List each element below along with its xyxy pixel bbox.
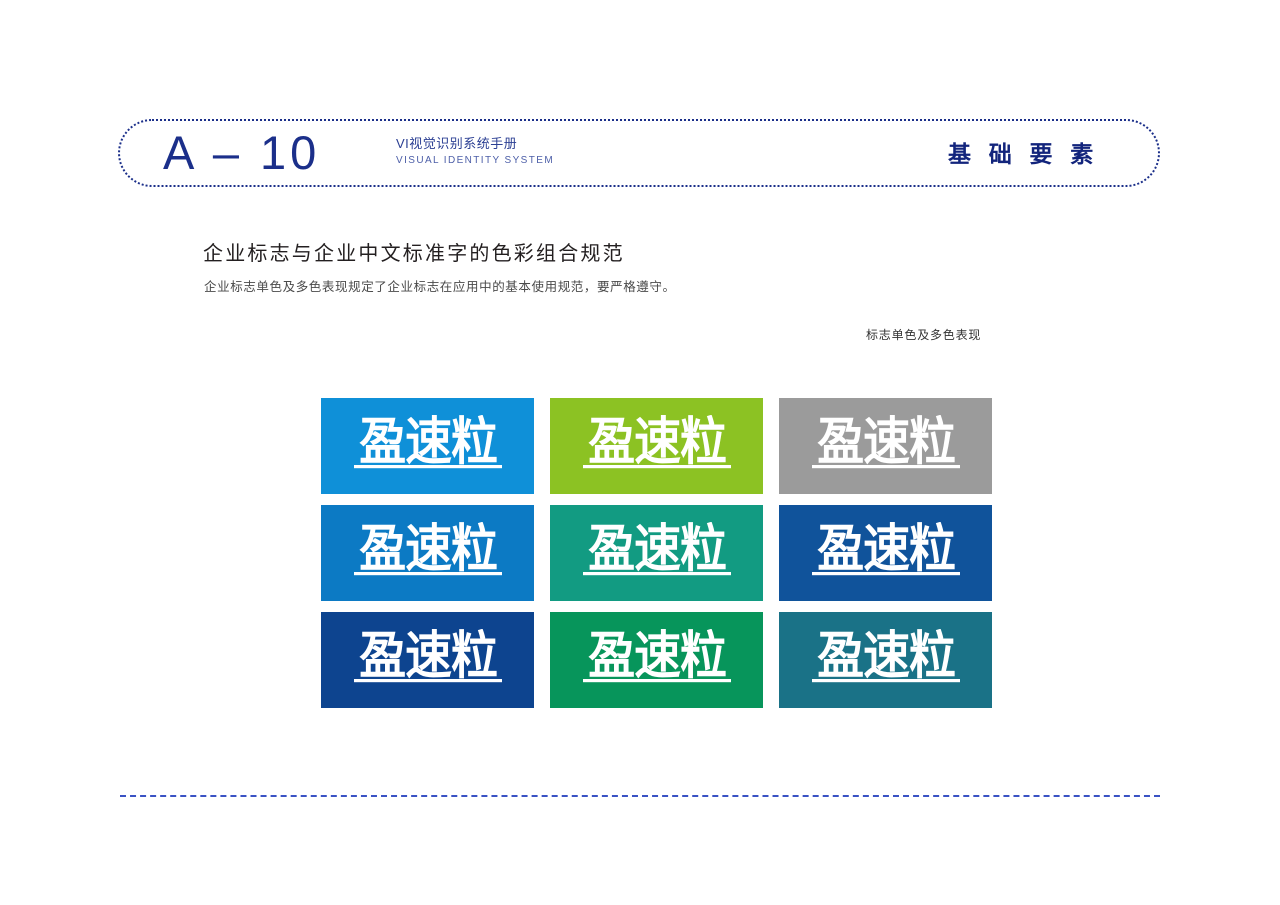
logo-wordmark: 盈速粒 (340, 629, 516, 691)
page-subtitle: 企业标志单色及多色表现规定了企业标志在应用中的基本使用规范，要严格遵守。 (204, 276, 676, 295)
logo-wordmark: 盈速粒 (569, 415, 745, 477)
logo-swatch-azure-blue[interactable]: 盈速粒 (321, 505, 534, 601)
svg-text:盈速粒: 盈速粒 (817, 522, 955, 579)
page-title: 企业标志与企业中文标准字的色彩组合规范 (203, 237, 625, 266)
svg-text:盈速粒: 盈速粒 (817, 629, 955, 686)
manual-title-block: VI视觉识别系统手册 VISUAL IDENTITY SYSTEM (396, 136, 554, 168)
logo-swatch-navy-blue[interactable]: 盈速粒 (779, 505, 992, 601)
logo-wordmark: 盈速粒 (798, 415, 974, 477)
manual-title-en: VISUAL IDENTITY SYSTEM (396, 155, 554, 168)
logo-wordmark: 盈速粒 (340, 522, 516, 584)
logo-swatch-lime-green[interactable]: 盈速粒 (550, 398, 763, 494)
vi-manual-page: A – 10 VI视觉识别系统手册 VISUAL IDENTITY SYSTEM… (0, 0, 1280, 905)
logo-wordmark: 盈速粒 (569, 522, 745, 584)
logo-swatch-deep-teal[interactable]: 盈速粒 (779, 612, 992, 708)
section-label: 基 础 要 素 (948, 135, 1099, 169)
manual-title-cn: VI视觉识别系统手册 (396, 136, 554, 152)
logo-swatch-royal-blue[interactable]: 盈速粒 (321, 612, 534, 708)
svg-text:盈速粒: 盈速粒 (817, 415, 955, 472)
logo-wordmark: 盈速粒 (569, 629, 745, 691)
logo-swatch-emerald[interactable]: 盈速粒 (550, 612, 763, 708)
logo-wordmark: 盈速粒 (798, 522, 974, 584)
svg-text:盈速粒: 盈速粒 (359, 522, 497, 579)
logo-color-grid: 盈速粒盈速粒盈速粒盈速粒盈速粒盈速粒盈速粒盈速粒盈速粒 (321, 398, 992, 708)
logo-wordmark: 盈速粒 (340, 415, 516, 477)
svg-text:盈速粒: 盈速粒 (588, 522, 726, 579)
logo-wordmark: 盈速粒 (798, 629, 974, 691)
swatch-grid-caption: 标志单色及多色表现 (866, 326, 981, 343)
page-code: A – 10 (163, 122, 320, 184)
logo-swatch-sky-blue[interactable]: 盈速粒 (321, 398, 534, 494)
logo-swatch-warm-gray[interactable]: 盈速粒 (779, 398, 992, 494)
logo-swatch-teal-green[interactable]: 盈速粒 (550, 505, 763, 601)
svg-text:盈速粒: 盈速粒 (359, 415, 497, 472)
svg-text:盈速粒: 盈速粒 (588, 629, 726, 686)
svg-text:盈速粒: 盈速粒 (588, 415, 726, 472)
footer-divider (120, 795, 1160, 797)
svg-text:盈速粒: 盈速粒 (359, 629, 497, 686)
